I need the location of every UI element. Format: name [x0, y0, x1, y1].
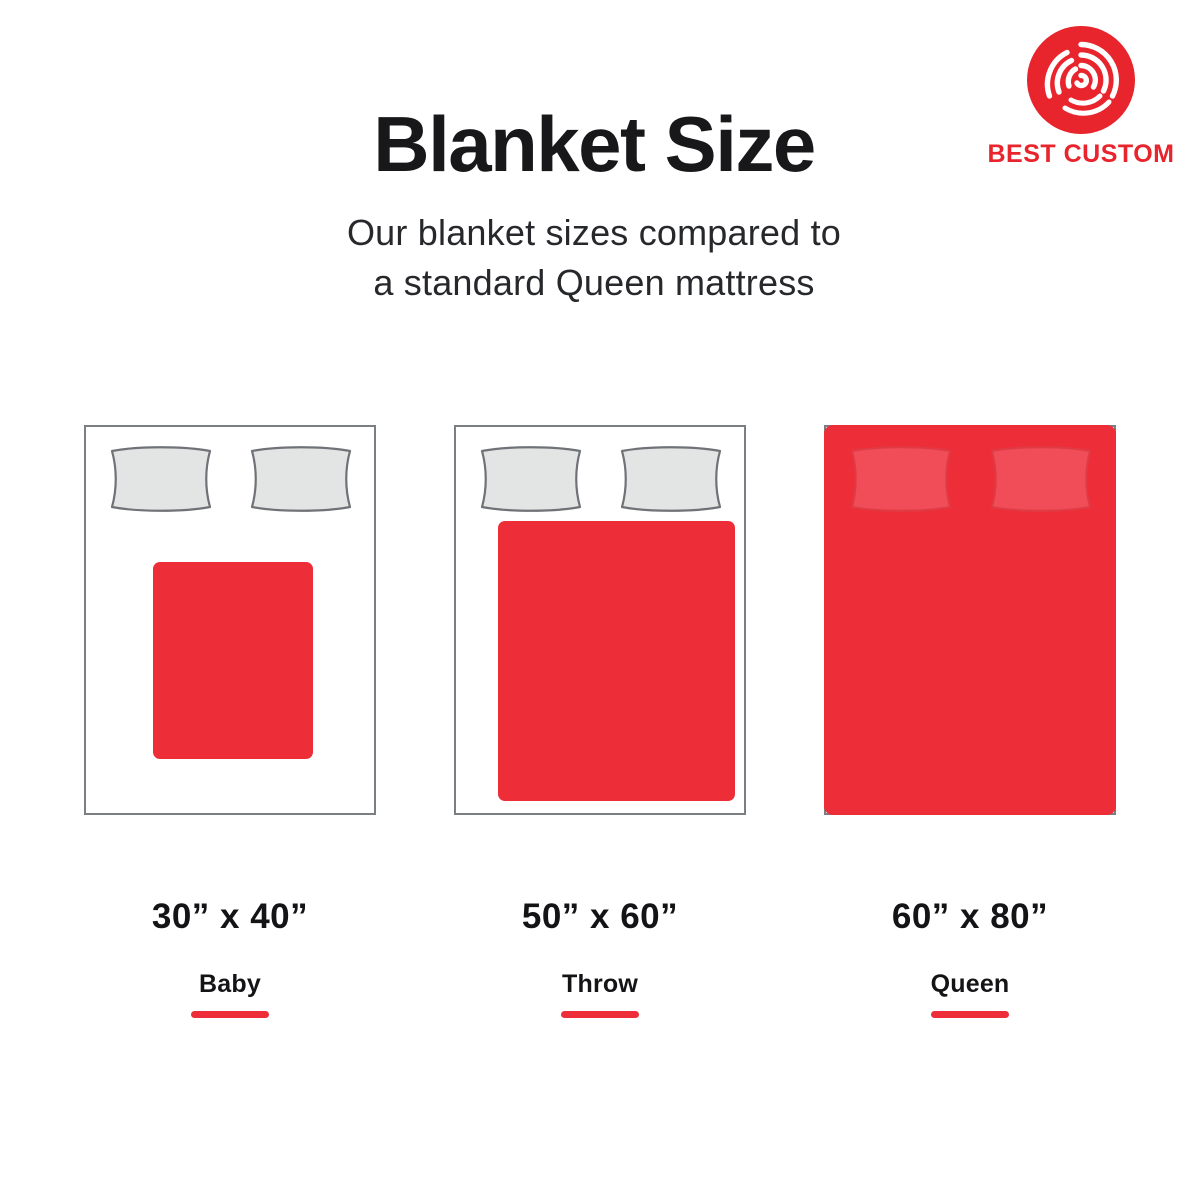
- bed-card-throw: 50” x 60” Throw: [454, 425, 746, 1018]
- infographic-canvas: BEST CUSTOM Blanket Size Our blanket siz…: [0, 0, 1200, 1200]
- headline-block: Blanket Size Our blanket sizes compared …: [0, 104, 1200, 307]
- pillow-icon-right: [986, 445, 1096, 513]
- page-title: Blanket Size: [0, 104, 1188, 186]
- blanket-dimension: 60” x 80”: [892, 899, 1048, 934]
- page-subtitle: Our blanket sizes compared to a standard…: [0, 208, 1188, 307]
- pillow-icon-right: [246, 445, 356, 513]
- accent-underline: [191, 1011, 269, 1018]
- blanket-dimension: 30” x 40”: [152, 899, 308, 934]
- bed-comparison-row: 30” x 40” Baby 5: [0, 425, 1200, 1018]
- bed-caption-throw: 50” x 60” Throw: [522, 899, 678, 1018]
- blanket-swatch-throw: [498, 521, 735, 801]
- pillow-icon-left: [476, 445, 586, 513]
- blanket-swatch-baby: [153, 562, 313, 759]
- blanket-dimension: 50” x 60”: [522, 899, 678, 934]
- blanket-size-name: Baby: [199, 972, 261, 997]
- bed-card-queen: 60” x 80” Queen: [824, 425, 1116, 1018]
- mattress-queen: [824, 425, 1116, 815]
- pillow-icon-left: [846, 445, 956, 513]
- accent-underline: [561, 1011, 639, 1018]
- bed-caption-baby: 30” x 40” Baby: [152, 899, 308, 1018]
- subtitle-line-1: Our blanket sizes compared to: [0, 208, 1188, 258]
- mattress-throw: [454, 425, 746, 815]
- pillow-icon-right: [616, 445, 726, 513]
- mattress-baby: [84, 425, 376, 815]
- pillow-icon-left: [106, 445, 216, 513]
- bed-caption-queen: 60” x 80” Queen: [892, 899, 1048, 1018]
- accent-underline: [931, 1011, 1009, 1018]
- bed-card-baby: 30” x 40” Baby: [84, 425, 376, 1018]
- blanket-size-name: Throw: [562, 972, 638, 997]
- subtitle-line-2: a standard Queen mattress: [0, 258, 1188, 308]
- blanket-size-name: Queen: [931, 972, 1010, 997]
